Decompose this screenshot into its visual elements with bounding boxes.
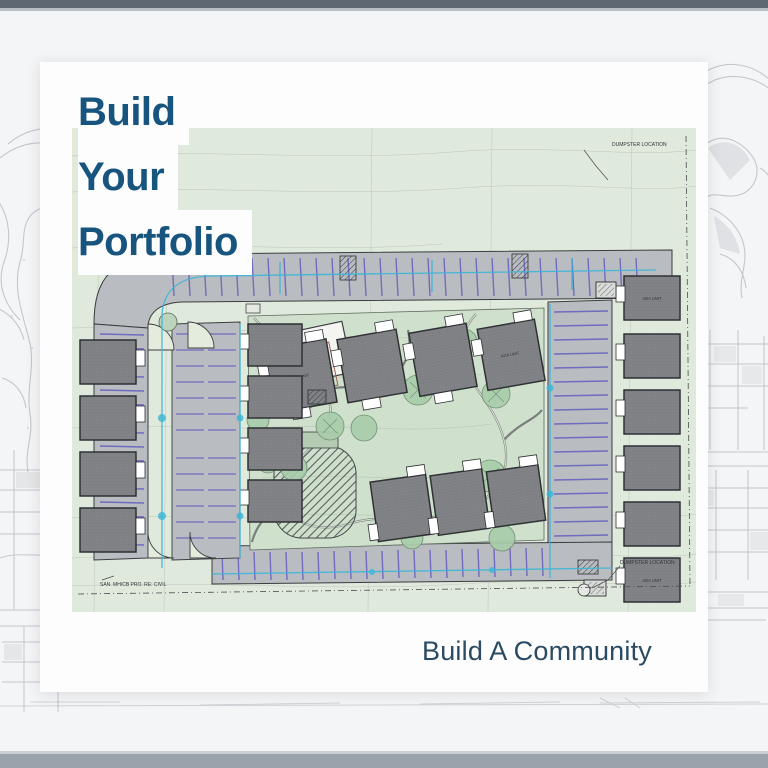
building — [624, 502, 680, 546]
building — [430, 469, 490, 536]
headline-line-1: Build — [78, 80, 189, 145]
building — [248, 428, 302, 470]
building-label: ADA UNIT — [642, 296, 662, 301]
background-sketch-right-upper — [700, 48, 768, 318]
background-sketch-bottom-strip — [0, 694, 768, 736]
caption-text: Build A Community — [422, 636, 652, 667]
building — [624, 334, 680, 378]
top-edge-bar-shadow — [0, 8, 768, 11]
headline-line-2: Your — [78, 145, 178, 210]
top-edge-bar — [0, 0, 768, 8]
building — [80, 508, 136, 552]
building — [248, 480, 302, 522]
building — [624, 390, 680, 434]
building — [248, 376, 302, 418]
headline-line-3: Portfolio — [78, 210, 252, 275]
building-label: ADA UNIT — [642, 578, 662, 583]
building — [80, 396, 136, 440]
civil-note-label: SAN. MH/CB PRO. RE: CIVIL — [100, 582, 167, 588]
bottom-edge-bar — [0, 754, 768, 768]
building — [370, 474, 434, 541]
page-title: Build Your Portfolio — [78, 80, 252, 275]
building — [486, 465, 545, 528]
dumpster-location-label-south: DUMPSTER LOCATION — [620, 560, 675, 566]
building — [80, 452, 136, 496]
building — [624, 446, 680, 490]
building — [409, 323, 477, 396]
building — [337, 329, 407, 402]
inner-west-drive — [172, 322, 240, 560]
dumpster-location-label-north: DUMPSTER LOCATION — [612, 142, 667, 148]
building — [248, 324, 302, 366]
building — [80, 340, 136, 384]
